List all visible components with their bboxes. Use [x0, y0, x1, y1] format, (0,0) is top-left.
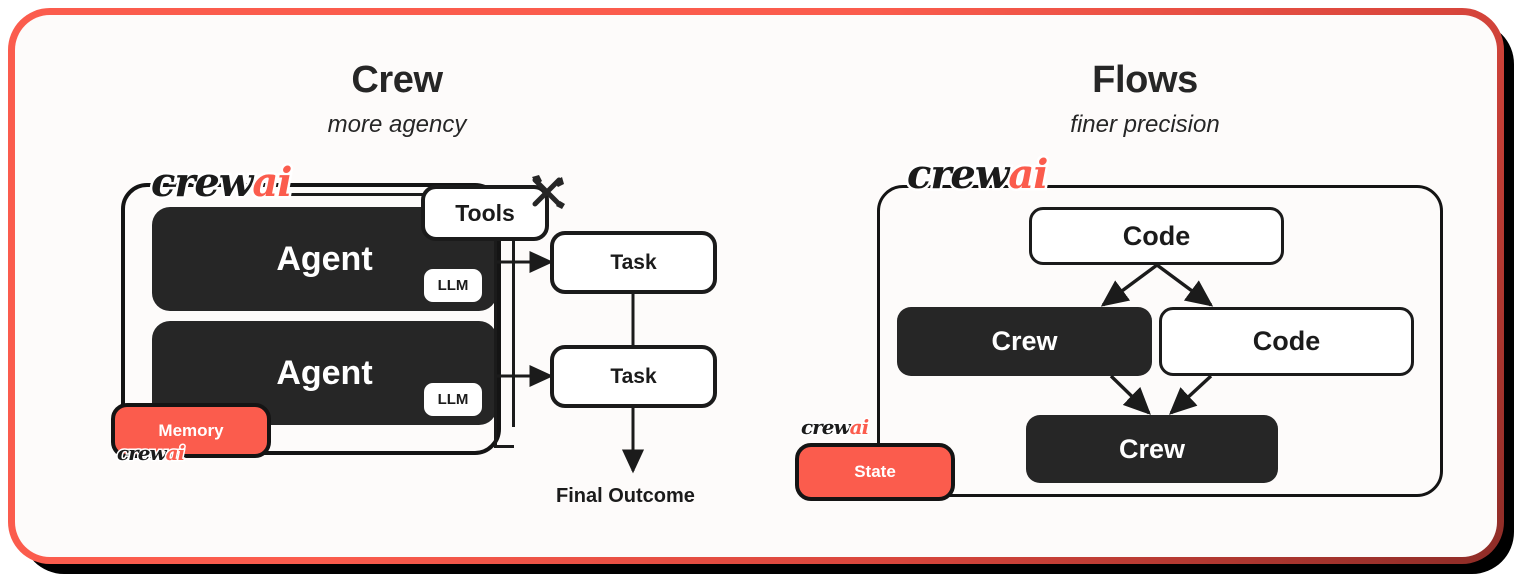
node-task-2[interactable]: Task [550, 345, 717, 408]
node-state-label: State [854, 462, 896, 482]
node-crew-bottom[interactable]: Crew [1026, 415, 1278, 483]
crewai-logo-state: crewai [801, 417, 868, 437]
node-memory-label: Memory [158, 421, 223, 441]
tools-icon [526, 171, 568, 213]
crewai-logo-memory-part2: ai [166, 441, 185, 465]
crewai-logo-memory: crewai [117, 443, 184, 463]
llm-badge-2: LLM [424, 383, 482, 416]
node-code-right-label: Code [1253, 326, 1321, 357]
node-code-right[interactable]: Code [1159, 307, 1414, 376]
node-task-1[interactable]: Task [550, 231, 717, 294]
crewai-logo-memory-part1: crew [117, 441, 166, 465]
connector-tools-bus-right [512, 241, 515, 427]
node-state[interactable]: State [795, 443, 955, 501]
node-crew-bottom-label: Crew [1119, 434, 1185, 465]
crewai-logo-crew: crewai [151, 163, 291, 203]
node-tools-label: Tools [455, 200, 515, 227]
node-crew-left-label: Crew [991, 326, 1057, 357]
panel-flows: Flows finer precision Code Crew Code Cre… [771, 15, 1519, 557]
connector-tools-bus-bottom [494, 445, 514, 448]
final-outcome-label: Final Outcome [556, 485, 695, 508]
node-task-2-label: Task [610, 365, 656, 389]
crewai-logo-state-part2: ai [850, 415, 869, 439]
diagram-canvas: Crew more agency Tools [0, 0, 1526, 586]
crew-title: Crew [23, 59, 771, 102]
panel-crew: Crew more agency Tools [23, 15, 771, 557]
outer-card-frame: Crew more agency Tools [8, 8, 1504, 564]
node-task-1-label: Task [610, 251, 656, 275]
crewai-logo-state-part1: crew [801, 415, 850, 439]
llm-badge-1-label: LLM [438, 277, 469, 294]
crewai-logo-crew-part1: crew [151, 159, 252, 206]
flows-title: Flows [771, 59, 1519, 102]
connector-tools-bus-left [494, 241, 497, 447]
llm-badge-1: LLM [424, 269, 482, 302]
crewai-logo-flows: crewai [907, 155, 1047, 195]
node-agent-1-label: Agent [276, 240, 372, 279]
crewai-logo-flows-part2: ai [1008, 151, 1047, 198]
node-code-top-label: Code [1123, 221, 1191, 252]
node-agent-2-label: Agent [276, 354, 372, 393]
node-crew-left[interactable]: Crew [897, 307, 1152, 376]
llm-badge-2-label: LLM [438, 391, 469, 408]
crew-subtitle: more agency [23, 111, 771, 139]
flows-subtitle: finer precision [771, 111, 1519, 139]
node-code-top[interactable]: Code [1029, 207, 1284, 265]
crewai-logo-flows-part1: crew [907, 151, 1008, 198]
crewai-logo-crew-part2: ai [252, 159, 291, 206]
